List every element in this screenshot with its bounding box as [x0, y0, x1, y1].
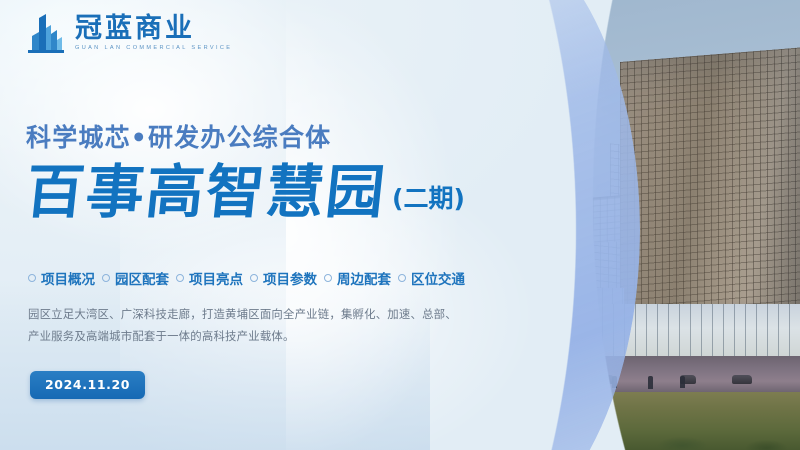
cover-slide: 冠蓝商业 GUAN LAN COMMERCIAL SERVICE 科学城芯•研发… [0, 0, 800, 450]
ring-dot-icon [250, 274, 258, 282]
pedestrian [576, 376, 581, 388]
nav-item-label: 项目概况 [41, 268, 95, 288]
car [548, 375, 566, 384]
project-description: 园区立足大湾区、广深科技走廊，打造黄埔区面向全产业链，集孵化、加速、总部、产业服… [28, 303, 460, 347]
nav-item-park-facilities[interactable]: 园区配套 [102, 268, 169, 288]
car [732, 375, 752, 384]
pedestrian [648, 376, 653, 389]
car [402, 375, 422, 384]
nav-item-surrounding-amenities[interactable]: 周边配套 [324, 268, 391, 288]
nav-item-location-transport[interactable]: 区位交通 [398, 268, 465, 288]
ring-dot-icon [176, 274, 184, 282]
brand-logo[interactable]: 冠蓝商业 GUAN LAN COMMERCIAL SERVICE [26, 12, 232, 54]
nav-item-label: 项目参数 [263, 268, 317, 288]
ring-dot-icon [398, 274, 406, 282]
car [492, 375, 512, 384]
pedestrian [612, 376, 617, 388]
nav-item-label: 区位交通 [411, 268, 465, 288]
page-title: 百事高智慧园 [23, 164, 389, 221]
brand-name-en: GUAN LAN COMMERCIAL SERVICE [75, 46, 232, 52]
hero-subtitle: 科学城芯•研发办公综合体 [26, 118, 556, 154]
road-surface [380, 356, 800, 392]
nav-item-project-highlights[interactable]: 项目亮点 [176, 268, 243, 288]
pedestrian [680, 376, 685, 388]
date-badge[interactable]: 2024.11.20 [30, 371, 145, 399]
nav-item-label: 项目亮点 [189, 268, 243, 288]
brand-name-cn: 冠蓝商业 [75, 15, 232, 42]
section-nav: 项目概况 园区配套 项目亮点 项目参数 周边配套 区位交通 [28, 268, 465, 288]
ring-dot-icon [324, 274, 332, 282]
car [594, 375, 614, 384]
car [438, 375, 455, 384]
nav-item-label: 周边配套 [337, 268, 391, 288]
ring-dot-icon [28, 274, 36, 282]
headline-block: 科学城芯•研发办公综合体 百事高智慧园 (二期) [26, 118, 556, 221]
nav-item-project-overview[interactable]: 项目概况 [28, 268, 95, 288]
shrub-border [380, 416, 800, 450]
ring-dot-icon [102, 274, 110, 282]
nav-item-label: 园区配套 [115, 268, 169, 288]
hero-title-row: 百事高智慧园 (二期) [26, 164, 556, 221]
project-phase-label: (二期) [392, 179, 465, 221]
building-skyline-icon [26, 12, 66, 54]
brand-wordmark: 冠蓝商业 GUAN LAN COMMERCIAL SERVICE [75, 15, 232, 52]
building-rendering-image [380, 0, 800, 450]
nav-item-project-parameters[interactable]: 项目参数 [250, 268, 317, 288]
